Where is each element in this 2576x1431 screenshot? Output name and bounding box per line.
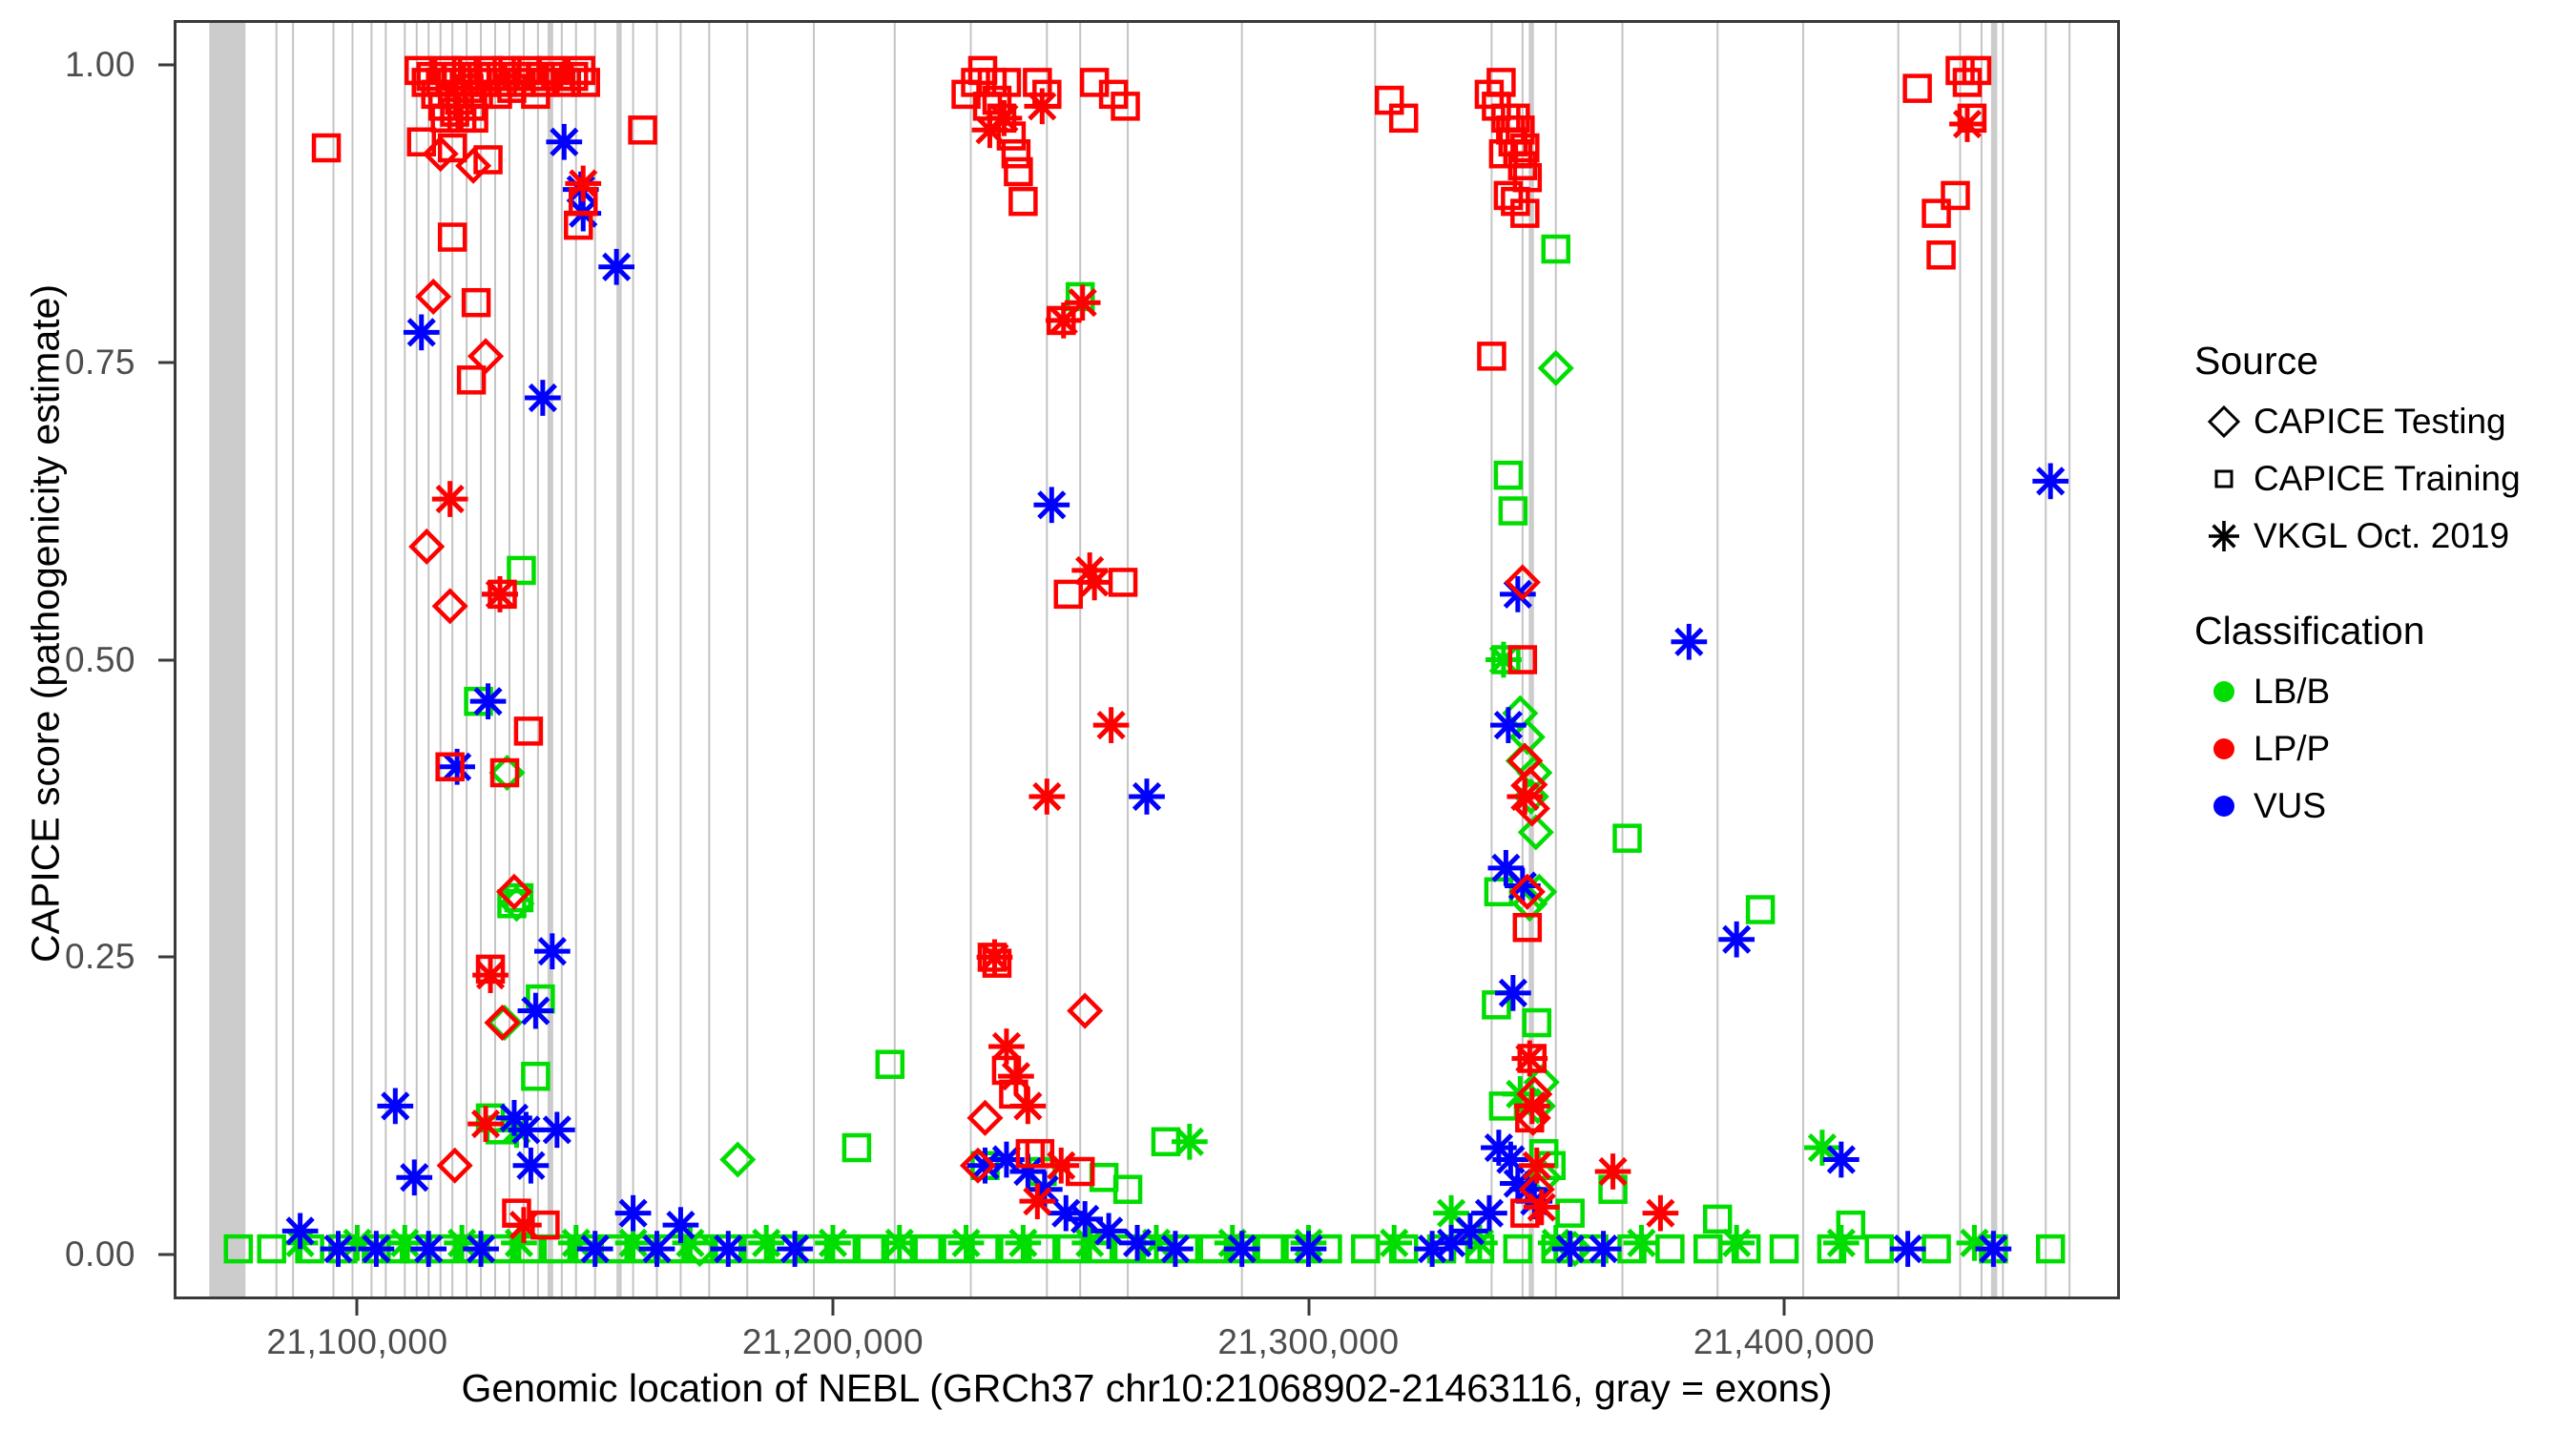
- data-point-asterisk: [1010, 1089, 1047, 1125]
- data-point-asterisk: [615, 1195, 652, 1232]
- y-axis-tick-mark: [158, 658, 174, 661]
- x-axis-tick-label: 21,400,000: [1693, 1322, 1875, 1362]
- y-axis-tick-mark: [158, 63, 174, 66]
- x-axis-tick-label: 21,200,000: [742, 1322, 924, 1362]
- data-point-asterisk: [777, 1231, 813, 1267]
- x-axis-tick-mark: [356, 1299, 359, 1316]
- data-point-asterisk: [639, 1231, 675, 1267]
- data-point-asterisk: [1552, 1231, 1589, 1267]
- data-point-square: [1905, 76, 1930, 101]
- data-point-asterisk: [815, 1225, 851, 1261]
- data-point-square: [844, 1135, 869, 1160]
- dot-icon: [2213, 738, 2234, 759]
- data-point-asterisk: [386, 1225, 423, 1261]
- data-point-asterisk: [1643, 1195, 1679, 1232]
- data-point-square: [1558, 1201, 1583, 1226]
- y-axis-tick-label: 0.25: [65, 937, 135, 977]
- legend-group-source: SourceCAPICE TestingCAPICE TrainingVKGL …: [2194, 339, 2557, 565]
- legend-item-label: LB/B: [2254, 672, 2330, 712]
- data-point-asterisk: [1586, 1231, 1622, 1267]
- data-point-asterisk: [1624, 1225, 1660, 1261]
- data-point-diamond: [1070, 996, 1100, 1027]
- data-point-asterisk: [404, 315, 440, 351]
- y-axis-tick-label: 0.50: [65, 640, 135, 680]
- data-point-square: [1657, 1236, 1682, 1261]
- data-point-asterisk: [396, 1159, 432, 1195]
- data-point-asterisk: [1823, 1142, 1859, 1178]
- data-point-asterisk: [282, 1213, 319, 1250]
- legend-item[interactable]: LP/P: [2194, 720, 2557, 778]
- data-point-square: [523, 1064, 548, 1089]
- data-point-asterisk: [1043, 1148, 1079, 1184]
- data-point-square: [260, 1236, 284, 1261]
- data-point-asterisk: [1890, 1231, 1926, 1267]
- x-axis-tick-label: 21,100,000: [266, 1322, 447, 1362]
- data-point-diamond: [435, 591, 466, 621]
- legend-group-title: Source: [2194, 339, 2557, 384]
- data-point-asterisk: [1976, 1231, 2012, 1267]
- data-point-square: [1029, 1236, 1054, 1261]
- data-point-asterisk: [1514, 1089, 1550, 1125]
- data-point-square: [1924, 1236, 1949, 1261]
- x-axis-tick-mark: [831, 1299, 834, 1316]
- data-point-square: [1056, 582, 1081, 607]
- data-point-asterisk: [467, 1106, 504, 1142]
- dot-legend-glyph: [2203, 785, 2245, 827]
- data-point-asterisk: [1414, 1231, 1450, 1267]
- series-capice-testing-lp-p: [411, 138, 1551, 1204]
- data-point-asterisk: [1506, 778, 1543, 815]
- data-point-asterisk: [513, 1148, 550, 1184]
- exon-band: [1991, 23, 1997, 1296]
- data-point-square: [2038, 1236, 2063, 1261]
- series-capice-training-lp-p: [314, 58, 1989, 1237]
- legend-item-marker: [2194, 393, 2254, 450]
- data-point-asterisk: [1157, 1231, 1194, 1267]
- legend-item-label: CAPICE Training: [2254, 459, 2521, 499]
- dot-icon: [2213, 796, 2234, 817]
- data-point-asterisk: [518, 993, 554, 1029]
- data-point-asterisk: [977, 940, 1013, 976]
- legend-item-marker: [2194, 663, 2254, 720]
- data-point-asterisk: [577, 1231, 613, 1267]
- data-point-square: [1772, 1236, 1797, 1261]
- legend-item-marker: [2194, 720, 2254, 778]
- data-point-asterisk: [1524, 1190, 1560, 1226]
- data-point-asterisk: [710, 1231, 746, 1267]
- legend-item[interactable]: CAPICE Training: [2194, 450, 2557, 508]
- dot-icon: [2213, 681, 2234, 702]
- data-point-square: [1010, 189, 1035, 214]
- y-axis-tick-mark: [158, 1254, 174, 1256]
- data-point-square: [1201, 1236, 1226, 1261]
- plot-panel: [174, 20, 2120, 1299]
- data-point-asterisk: [377, 1089, 413, 1125]
- y-axis-tick-label: 0.75: [65, 342, 135, 383]
- data-point-square: [1091, 1165, 1116, 1190]
- data-point-asterisk: [1093, 707, 1130, 743]
- data-point-diamond: [970, 1103, 1001, 1133]
- data-point-asterisk: [1718, 922, 1755, 958]
- legend-group-classification: ClassificationLB/BLP/PVUS: [2194, 609, 2557, 835]
- data-point-square: [1111, 570, 1135, 594]
- x-axis-title: Genomic location of NEBL (GRCh37 chr10:2…: [174, 1366, 2120, 1411]
- exon-band: [209, 23, 245, 1296]
- data-point-square: [1615, 826, 1640, 851]
- data-point-diamond: [418, 281, 448, 312]
- data-point-asterisk: [1949, 106, 1985, 142]
- data-point-asterisk: [1033, 487, 1070, 523]
- data-point-asterisk: [539, 1111, 575, 1148]
- data-point-asterisk: [988, 1028, 1025, 1065]
- chart-page: CAPICE score (pathogenicity estimate) 0.…: [0, 0, 2576, 1431]
- data-point-asterisk: [1823, 1225, 1859, 1261]
- legend-item-marker: [2194, 778, 2254, 835]
- data-point-diamond: [440, 1151, 470, 1181]
- data-point-asterisk: [948, 1225, 985, 1261]
- data-point-asterisk: [359, 1231, 395, 1267]
- data-point-asterisk: [1490, 707, 1527, 743]
- data-point-asterisk: [1495, 975, 1531, 1011]
- data-point-square: [1506, 1236, 1530, 1261]
- data-point-square: [1491, 1093, 1516, 1118]
- data-point-square: [973, 1236, 998, 1261]
- data-point-asterisk: [463, 1231, 499, 1267]
- data-point-square: [1525, 1010, 1549, 1035]
- x-axis-tick-mark: [1307, 1299, 1310, 1316]
- x-axis-tick-mark: [1783, 1299, 1786, 1316]
- legend-item[interactable]: VKGL Oct. 2019: [2194, 508, 2557, 565]
- data-point-asterisk: [534, 933, 571, 969]
- data-point-asterisk: [1519, 1148, 1555, 1184]
- data-point-diamond: [722, 1145, 753, 1175]
- data-point-asterisk: [506, 1207, 542, 1243]
- legend-item-label: VUS: [2254, 786, 2326, 826]
- data-point-asterisk: [470, 683, 507, 719]
- data-point-square: [509, 558, 533, 583]
- diamond-icon: [2210, 407, 2238, 436]
- exon-band: [616, 23, 621, 1296]
- exon-band: [548, 23, 553, 1296]
- dot-legend-glyph: [2203, 728, 2245, 770]
- legend-item-label: VKGL Oct. 2019: [2254, 516, 2509, 556]
- data-point-asterisk: [1224, 1231, 1260, 1267]
- y-axis-tick-mark: [158, 956, 174, 959]
- data-point-asterisk: [482, 576, 518, 612]
- data-point-square: [916, 1236, 941, 1261]
- dot-legend-glyph: [2203, 671, 2245, 713]
- data-point-asterisk: [546, 124, 582, 160]
- data-point-square: [1929, 242, 1954, 267]
- data-point-asterisk: [1511, 1041, 1548, 1077]
- legend-group-title: Classification: [2194, 609, 2557, 653]
- data-point-square: [1496, 463, 1521, 487]
- data-point-asterisk: [1718, 1225, 1755, 1261]
- data-point-asterisk: [1671, 624, 1707, 660]
- series-capice-testing-lb-b: [489, 353, 1589, 1264]
- data-point-asterisk: [472, 957, 509, 993]
- data-point-asterisk: [525, 380, 561, 416]
- legend-item[interactable]: VUS: [2194, 778, 2557, 835]
- data-point-asterisk: [2032, 464, 2068, 500]
- data-point-square: [859, 1236, 883, 1261]
- legend-item[interactable]: LB/B: [2194, 663, 2557, 720]
- legend-item[interactable]: CAPICE Testing: [2194, 393, 2557, 450]
- legend-item-label: LP/P: [2254, 729, 2330, 769]
- data-point-asterisk: [1129, 778, 1165, 815]
- data-point-asterisk: [1065, 284, 1101, 321]
- data-point-square: [878, 1052, 903, 1077]
- asterisk-icon: [2209, 521, 2239, 551]
- y-axis-tick-labels: 0.000.250.500.751.00: [0, 0, 135, 1336]
- data-point-asterisk: [410, 1231, 447, 1267]
- data-point-asterisk: [1376, 1225, 1412, 1261]
- asterisk-legend-glyph: [2203, 515, 2245, 557]
- chart-legend: SourceCAPICE TestingCAPICE TrainingVKGL …: [2194, 339, 2557, 879]
- series-vkgl-oct-2019-lp-p: [432, 88, 1985, 1243]
- data-point-asterisk: [1291, 1231, 1327, 1267]
- data-point-asterisk: [1024, 88, 1060, 124]
- data-point-square: [1258, 1236, 1283, 1261]
- data-point-asterisk: [1172, 1124, 1208, 1160]
- data-point-asterisk: [1028, 778, 1065, 815]
- square-legend-glyph: [2203, 458, 2245, 500]
- y-axis-tick-label: 1.00: [65, 45, 135, 85]
- diamond-legend-glyph: [2203, 401, 2245, 443]
- data-point-asterisk: [1019, 1183, 1055, 1219]
- square-icon: [2216, 471, 2232, 487]
- data-point-asterisk: [509, 1111, 545, 1148]
- data-point-square: [1748, 898, 1773, 923]
- x-axis-tick-label: 21,300,000: [1217, 1322, 1399, 1362]
- data-point-asterisk: [1076, 565, 1112, 601]
- data-point-asterisk: [1595, 1153, 1631, 1190]
- data-point-square: [314, 135, 339, 160]
- legend-item-marker: [2194, 450, 2254, 508]
- legend-item-label: CAPICE Testing: [2254, 402, 2506, 442]
- data-point-asterisk: [321, 1231, 357, 1267]
- data-point-asterisk: [1493, 1142, 1529, 1178]
- data-point-asterisk: [1006, 1225, 1042, 1261]
- exon-lines-group: [277, 23, 2069, 1296]
- data-point-asterisk: [882, 1225, 918, 1261]
- y-axis-tick-label: 0.00: [65, 1234, 135, 1275]
- data-point-asterisk: [1119, 1225, 1155, 1261]
- data-point-asterisk: [432, 481, 468, 517]
- data-point-asterisk: [598, 249, 634, 285]
- legend-item-marker: [2194, 508, 2254, 565]
- data-point-asterisk: [987, 100, 1023, 136]
- y-axis-tick-mark: [158, 361, 174, 363]
- data-point-asterisk: [565, 166, 601, 202]
- data-point-square: [1867, 1236, 1892, 1261]
- data-point-asterisk: [748, 1225, 784, 1261]
- data-point-square: [1484, 992, 1508, 1017]
- scatter-plot-canvas: [177, 23, 2117, 1296]
